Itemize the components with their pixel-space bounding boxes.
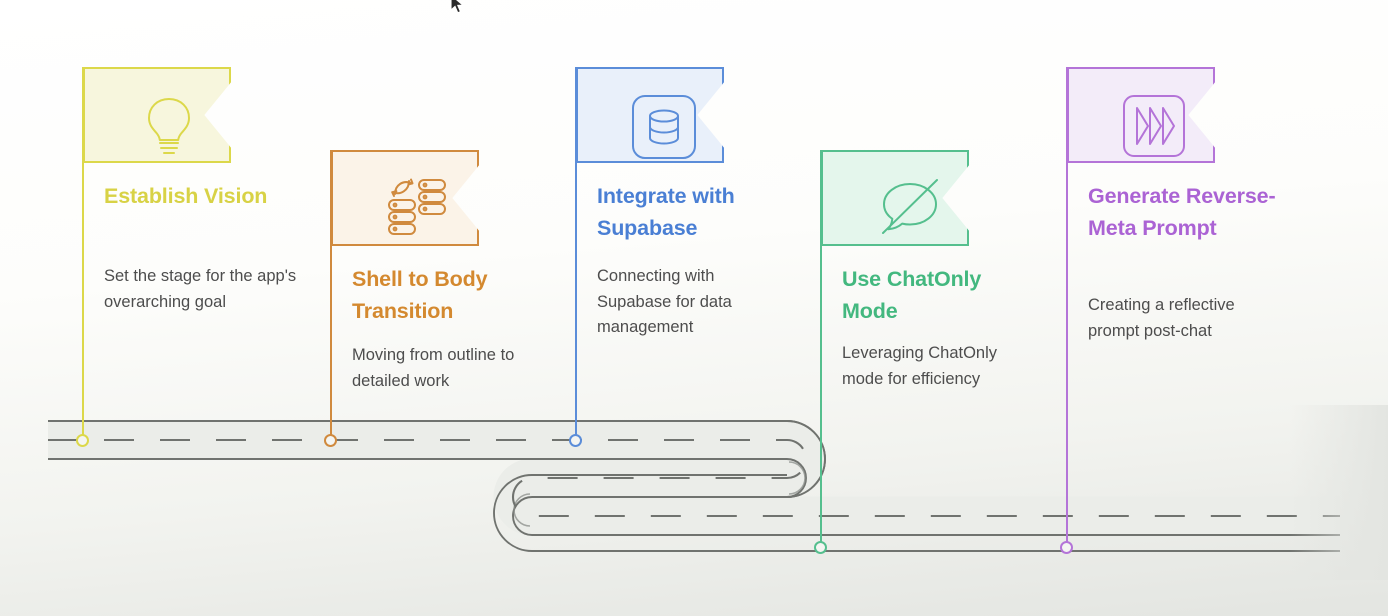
mouse-pointer-icon xyxy=(450,0,466,16)
cursor-layer xyxy=(0,0,1388,616)
roadmap-diagram: Establish Vision Set the stage for the a… xyxy=(0,0,1388,616)
